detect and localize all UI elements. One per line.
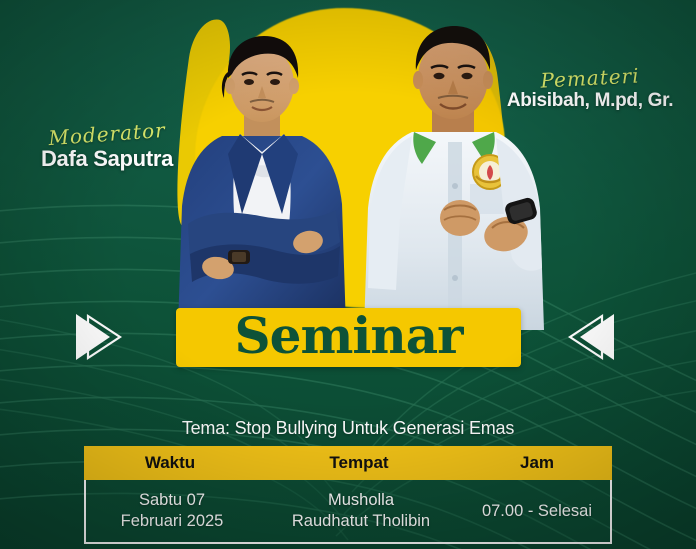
theme-line: Tema: Stop Bullying Untuk Generasi Emas [0, 418, 696, 439]
table-header-row: Waktu Tempat Jam [84, 446, 612, 480]
cell-jam: 07.00 - Selesai [464, 501, 610, 522]
cell-waktu-line2: Februari 2025 [86, 511, 258, 532]
seminar-title-banner: Seminar [176, 308, 521, 367]
triangle-left-icon [556, 308, 628, 366]
moderator-label-block: Moderator Dafa Saputra [22, 122, 192, 172]
column-header-tempat: Tempat [256, 453, 462, 473]
moderator-photo [170, 28, 355, 328]
triangle-right-icon [62, 308, 134, 366]
seminar-poster: Moderator Dafa Saputra Pemateri Abisibah… [0, 0, 696, 549]
cell-waktu-line1: Sabtu 07 [86, 490, 258, 511]
cell-tempat: Musholla Raudhatut Tholibin [258, 490, 464, 531]
cell-waktu: Sabtu 07 Februari 2025 [86, 490, 258, 531]
event-info-table: Waktu Tempat Jam Sabtu 07 Februari 2025 … [84, 446, 612, 544]
column-header-jam: Jam [462, 453, 612, 473]
table-row: Sabtu 07 Februari 2025 Musholla Raudhatu… [84, 480, 612, 544]
page-title: Seminar [235, 311, 463, 361]
speaker-photo [352, 18, 557, 330]
speaker-label-block: Pemateri Abisibah, M.pd, Gr. [492, 66, 688, 112]
column-header-waktu: Waktu [84, 453, 256, 473]
cell-tempat-line2: Raudhatut Tholibin [258, 511, 464, 532]
cell-tempat-line1: Musholla [258, 490, 464, 511]
